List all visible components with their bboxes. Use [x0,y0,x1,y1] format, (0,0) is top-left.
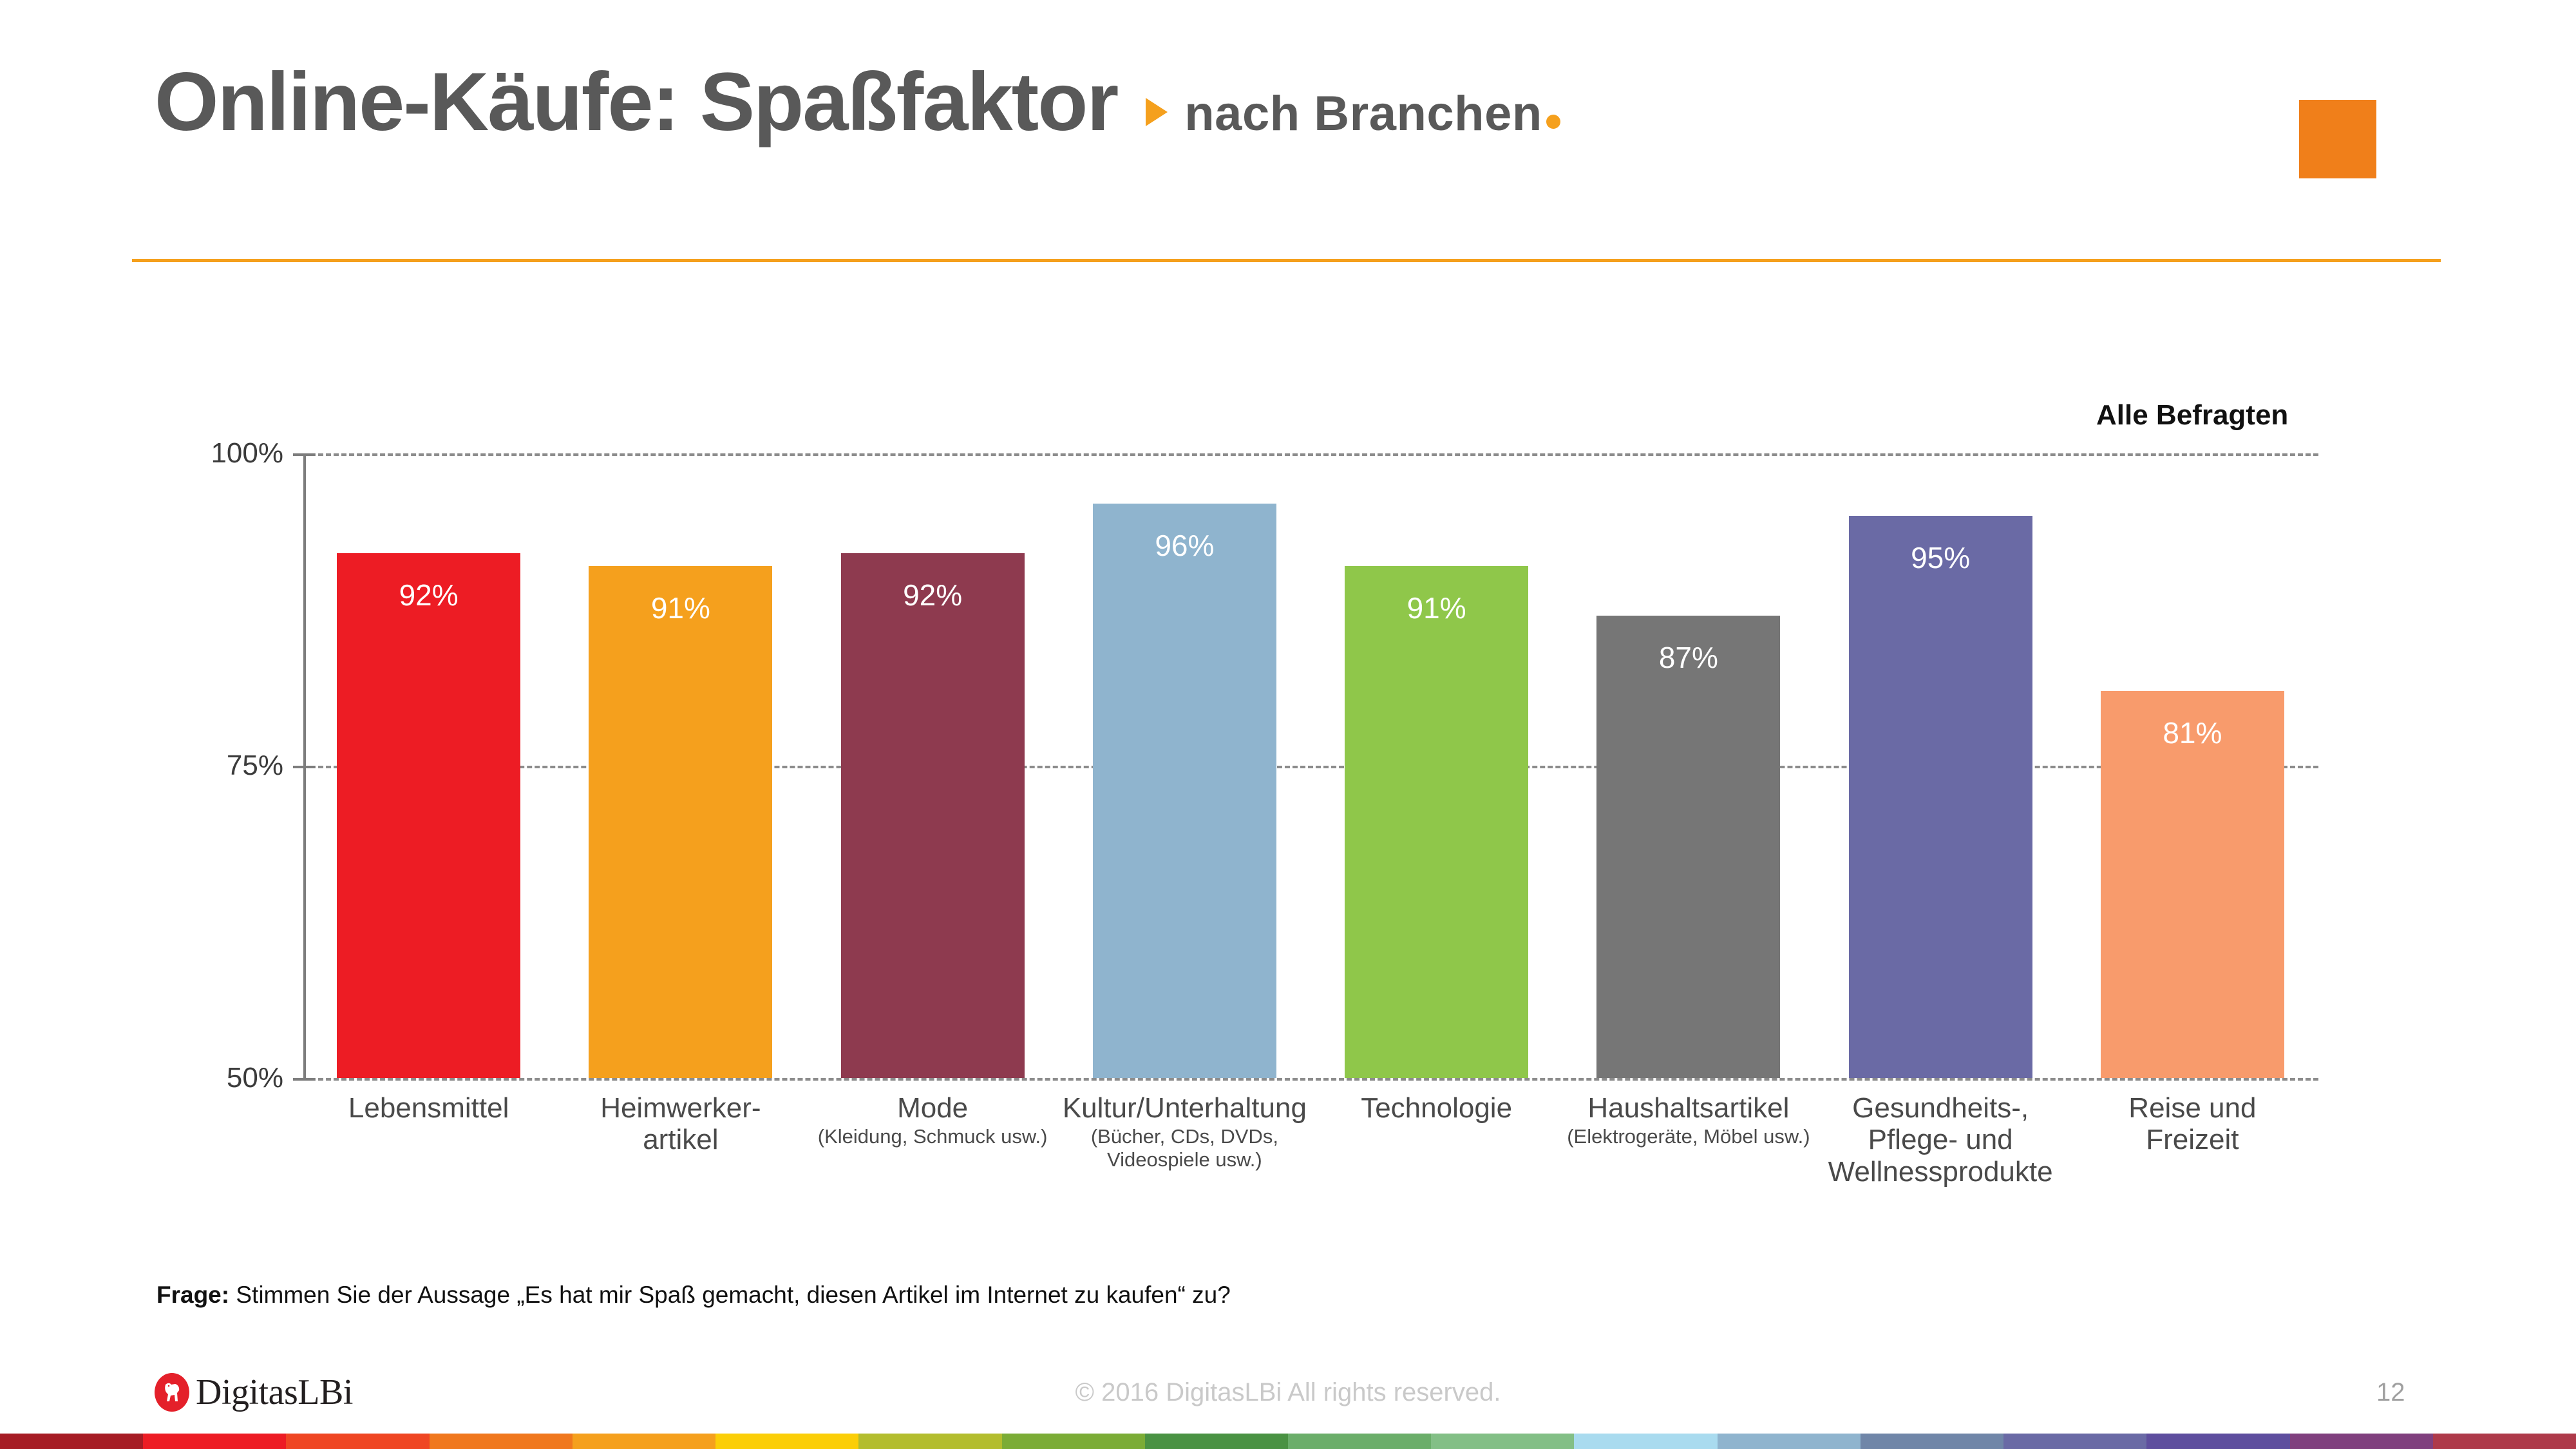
category-label-8: Reise undFreizeit [2054,1092,2331,1156]
stripe-segment [1861,1434,2003,1449]
bar-chart: Alle Befragten 50%75%100% 92%91%92%96%91… [0,0,2576,1449]
bar-value-label: 81% [2101,718,2284,748]
bar-7[interactable]: 95% [1849,516,2032,1078]
gridline-100 [303,453,2318,456]
stripe-segment [2290,1434,2433,1449]
stripe-segment [2003,1434,2146,1449]
stripe-segment [858,1434,1001,1449]
category-label-1: Lebensmittel [290,1092,567,1124]
stripe-segment [2433,1434,2576,1449]
stripe-segment [1574,1434,1717,1449]
chart-legend-note: Alle Befragten [2096,399,2288,431]
y-axis-tick [293,1078,315,1081]
bar-value-label: 95% [1849,543,2032,573]
stripe-segment [286,1434,429,1449]
stripe-segment [2146,1434,2289,1449]
stripe-segment [1288,1434,1431,1449]
category-label-4: Kultur/Unterhaltung(Bücher, CDs, DVDs,Vi… [1046,1092,1323,1171]
bar-2[interactable]: 91% [589,566,772,1078]
stripe-segment [430,1434,573,1449]
bar-value-label: 92% [841,580,1025,610]
bar-5[interactable]: 91% [1345,566,1528,1078]
bar-6[interactable]: 87% [1596,616,1780,1078]
bar-4[interactable]: 96% [1093,504,1276,1078]
category-sublabel: (Elektrogeräte, Möbel usw.) [1549,1125,1827,1148]
category-label-6: Haushaltsartikel(Elektrogeräte, Möbel us… [1549,1092,1827,1148]
stripe-segment [1145,1434,1288,1449]
y-axis-line [303,453,306,1078]
stripe-segment [573,1434,715,1449]
category-label-7: Gesundheits-,Pflege- undWellnessprodukte [1802,1092,2079,1188]
category-label-3: Mode(Kleidung, Schmuck usw.) [794,1092,1072,1148]
bar-value-label: 91% [589,593,772,623]
stripe-segment [1002,1434,1145,1449]
question-text: Stimmen Sie der Aussage „Es hat mir Spaß… [229,1282,1231,1308]
page-number: 12 [2376,1378,2405,1407]
bar-8[interactable]: 81% [2101,691,2284,1078]
stripe-segment [1718,1434,1861,1449]
color-stripe [0,1434,2576,1449]
category-sublabel: (Kleidung, Schmuck usw.) [794,1125,1072,1148]
gridline-50 [303,1078,2318,1081]
stripe-segment [143,1434,286,1449]
category-label-2: Heimwerker-artikel [542,1092,819,1156]
bar-1[interactable]: 92% [337,553,520,1078]
bar-value-label: 91% [1345,593,1528,623]
bar-value-label: 87% [1596,643,1780,672]
stripe-segment [0,1434,143,1449]
stripe-segment [715,1434,858,1449]
stripe-segment [1431,1434,1574,1449]
bar-value-label: 96% [1093,531,1276,560]
copyright-text: © 2016 DigitasLBi All rights reserved. [0,1378,2576,1407]
bar-value-label: 92% [337,580,520,610]
question-prefix: Frage: [156,1282,229,1308]
question-footnote: Frage: Stimmen Sie der Aussage „Es hat m… [156,1282,1231,1309]
category-label-5: Technologie [1298,1092,1575,1124]
bar-3[interactable]: 92% [841,553,1025,1078]
category-sublabel: (Bücher, CDs, DVDs,Videospiele usw.) [1046,1125,1323,1171]
